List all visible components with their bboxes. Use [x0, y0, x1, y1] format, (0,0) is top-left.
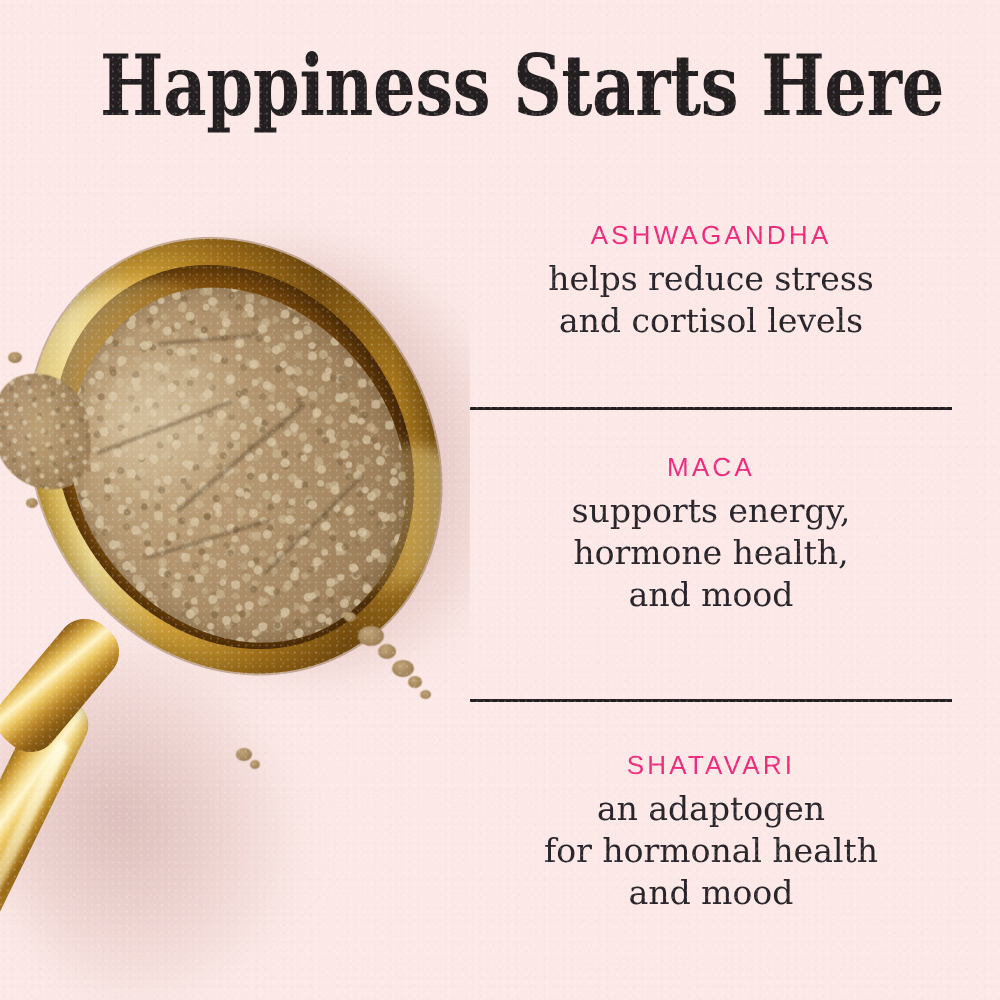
divider-2 [470, 699, 952, 702]
ingredient-name-ashwagandha: ASHWAGANDHA [470, 218, 952, 252]
ingredient-description-line: and cortisol levels [470, 300, 952, 342]
powder-crumb [236, 748, 252, 761]
ingredient-description-ashwagandha: helps reduce stress and cortisol levels [470, 258, 952, 342]
powder-crumb [358, 626, 384, 646]
powder-crumb [344, 612, 356, 622]
ingredient-description-line: helps reduce stress [470, 258, 952, 300]
ingredient-name-maca: MACA [470, 450, 952, 484]
gold-spoon [0, 0, 470, 1000]
powder-crumb [8, 352, 22, 363]
powder-crumb [26, 498, 38, 508]
spoon-photo [0, 0, 470, 1000]
powder-crumb [420, 690, 431, 699]
ingredient-description-line: for hormonal health [470, 830, 952, 872]
powder-crumb [408, 676, 422, 688]
ingredient-description-maca: supports energy, hormone health, and moo… [470, 490, 952, 616]
ingredient-block-maca: MACA supports energy, hormone health, an… [470, 450, 952, 616]
ingredient-description-line: an adaptogen [470, 788, 952, 830]
powder-crumb [392, 660, 414, 677]
promo-graphic: Happiness Starts Here [0, 0, 1000, 1000]
ingredient-description-line: and mood [470, 872, 952, 914]
ingredient-description-shatavari: an adaptogen for hormonal health and moo… [470, 788, 952, 914]
ingredient-description-line: hormone health, [470, 532, 952, 574]
ingredient-list: ASHWAGANDHA helps reduce stress and cort… [470, 0, 952, 1000]
ingredient-description-line: supports energy, [470, 490, 952, 532]
powder-crumb [378, 644, 396, 659]
ingredient-block-ashwagandha: ASHWAGANDHA helps reduce stress and cort… [470, 218, 952, 342]
divider-1 [470, 407, 952, 410]
powder-crumb [250, 760, 260, 769]
ingredient-name-shatavari: SHATAVARI [470, 748, 952, 782]
ingredient-description-line: and mood [470, 574, 952, 616]
ingredient-block-shatavari: SHATAVARI an adaptogen for hormonal heal… [470, 748, 952, 914]
